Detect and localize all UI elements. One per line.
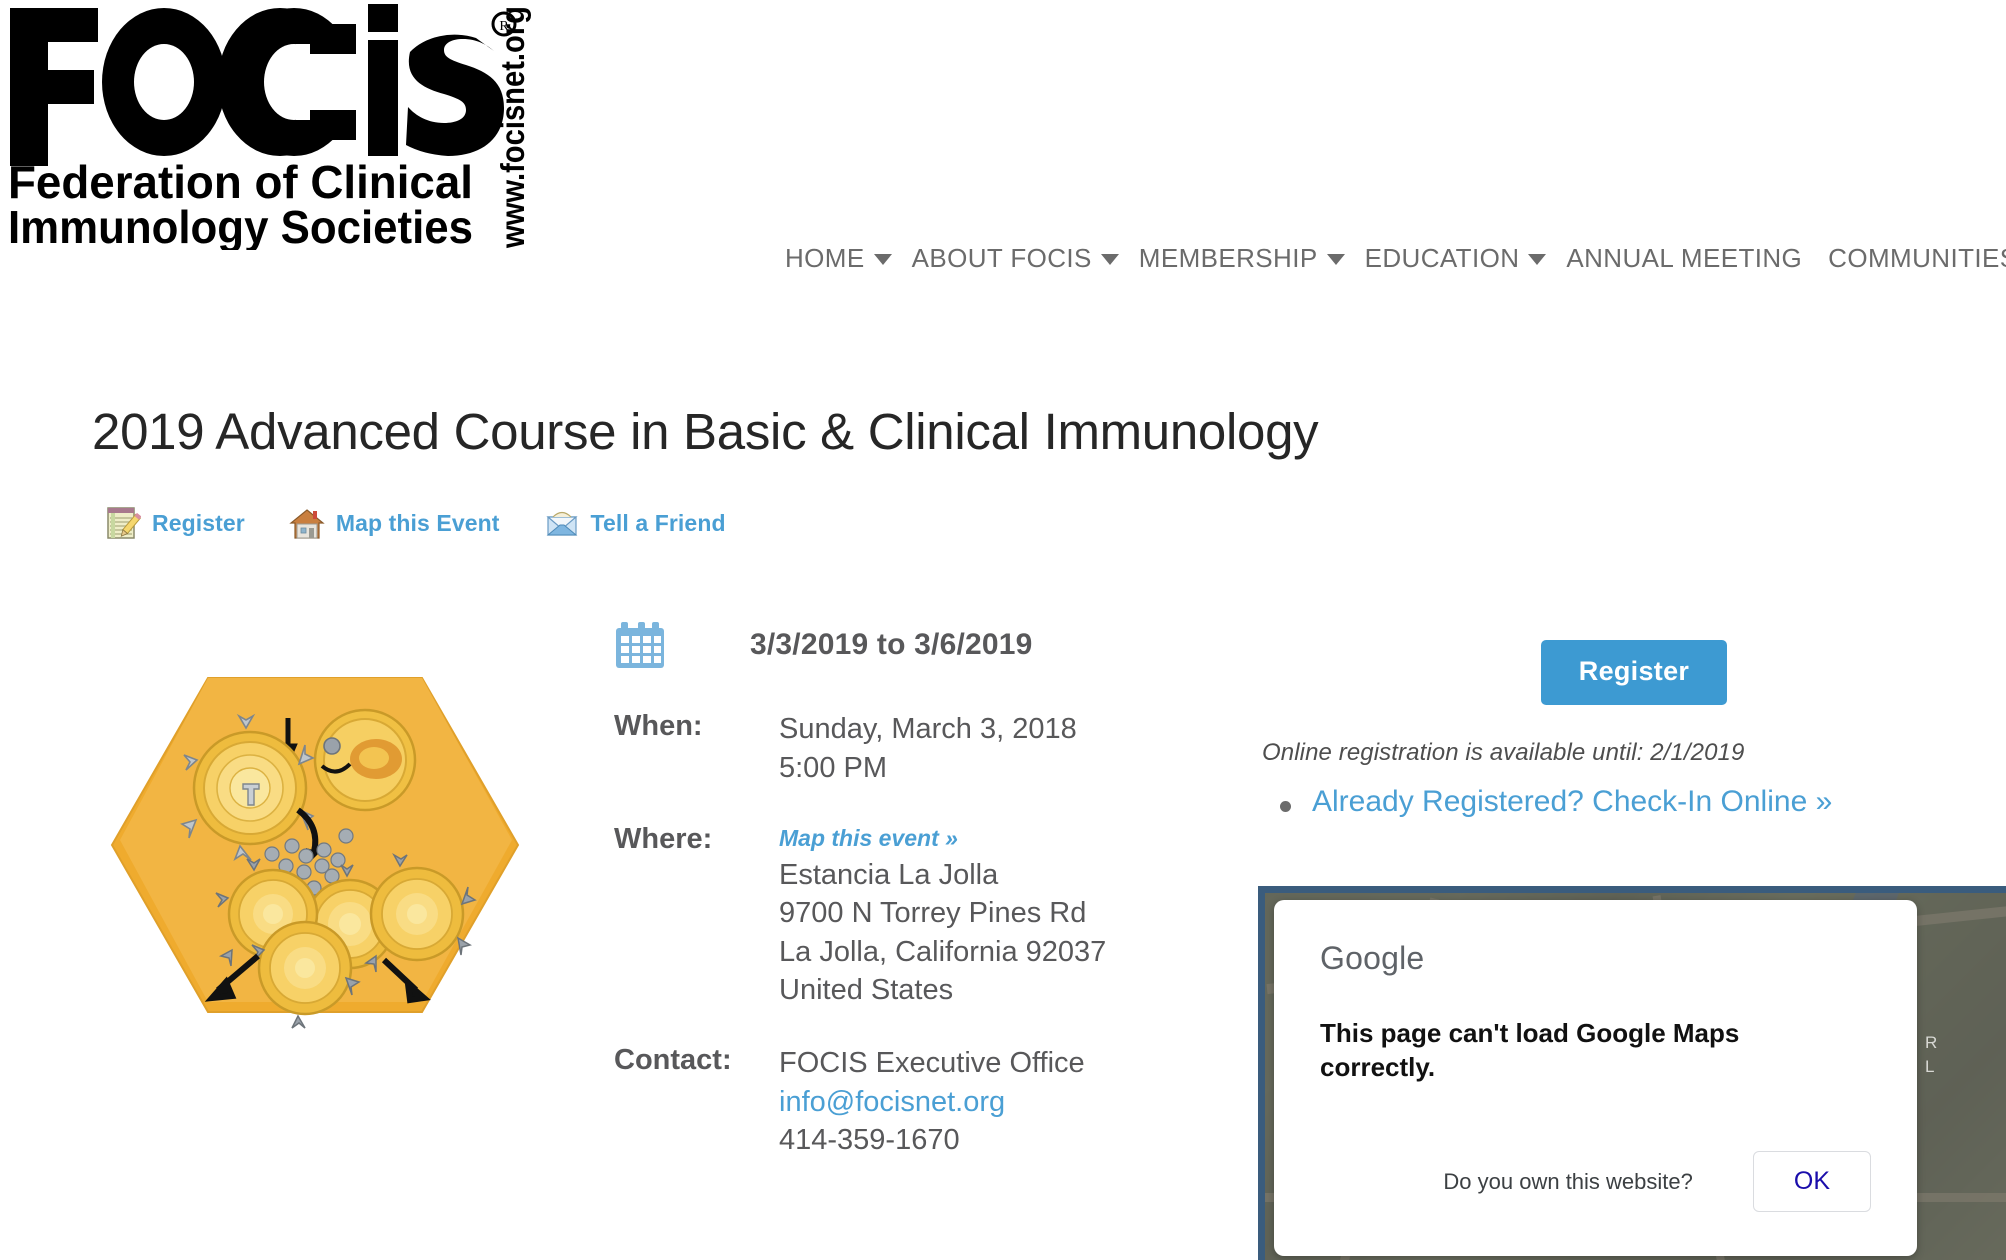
chevron-down-icon [1101,254,1119,265]
event-where-label: Where: [614,823,779,1010]
svg-text:Immunology Societies: Immunology Societies [8,201,473,250]
event-action-links: Register Map this Event Tell a Friend [105,505,770,541]
google-maps-error-message: This page can't load Google Maps correct… [1320,1017,1770,1085]
map-this-event-inline-link[interactable]: Map this event » [779,823,1106,854]
nav-item-annual-meeting[interactable]: ANNUAL MEETING [1566,245,1828,271]
event-contact-label: Contact: [614,1044,779,1160]
nav-item-home-label: HOME [785,245,865,271]
event-date-row: 3/3/2019 to 3/6/2019 [614,620,1234,670]
chevron-down-icon [1528,254,1546,265]
nav-item-about-focis-label: ABOUT FOCIS [912,245,1092,271]
event-contact-row: Contact: FOCIS Executive Office info@foc… [614,1044,1234,1160]
nav-item-communities[interactable]: COMMUNITIES [1828,245,2006,271]
immunology-hexagon-graphic [100,660,530,1030]
chevron-down-icon [874,254,892,265]
venue-country: United States [779,971,1106,1010]
google-logo: Google [1320,940,1871,977]
main-navigation[interactable]: HOME ABOUT FOCIS MEMBERSHIP EDUCATION AN… [785,245,2006,271]
page-title: 2019 Advanced Course in Basic & Clinical… [92,404,1318,460]
nav-item-communities-label: COMMUNITIES [1828,245,2006,271]
focis-logo[interactable]: R Federation of Clinical Immunology Soci… [4,0,549,250]
tell-a-friend-action-label: Tell a Friend [591,510,726,537]
nav-item-annual-meeting-label: ANNUAL MEETING [1566,245,1802,271]
nav-item-about-focis[interactable]: ABOUT FOCIS [912,245,1139,271]
registration-column: Register Online registration is availabl… [1262,620,2006,819]
event-when-value: Sunday, March 3, 2018 5:00 PM [779,710,1077,787]
register-button[interactable]: Register [1541,640,1727,705]
venue-city-state-zip: La Jolla, California 92037 [779,933,1106,972]
event-details: 3/3/2019 to 3/6/2019 When: Sunday, March… [614,620,1234,1182]
event-where-row: Where: Map this event » Estancia La Joll… [614,823,1234,1010]
event-date-range: 3/3/2019 to 3/6/2019 [750,628,1033,662]
event-when-row: When: Sunday, March 3, 2018 5:00 PM [614,710,1234,787]
registration-links-list: Already Registered? Check-In Online » [1262,785,2006,819]
google-maps-error-dialog: Google This page can't load Google Maps … [1274,900,1917,1256]
svg-text:www.focisnet.org: www.focisnet.org [494,6,531,249]
map-this-event-action-link[interactable]: Map this Event [289,505,500,541]
nav-item-education-label: EDUCATION [1365,245,1520,271]
calendar-icon [614,620,666,670]
nav-item-home[interactable]: HOME [785,245,912,271]
own-website-question: Do you own this website? [1443,1169,1692,1195]
event-when-label: When: [614,710,779,787]
event-when-time: 5:00 PM [779,749,1077,788]
venue-name: Estancia La Jolla [779,856,1106,895]
event-hexagon-illustration [100,660,530,1030]
house-icon [289,505,325,541]
contact-email-link[interactable]: info@focisnet.org [779,1083,1085,1122]
nav-item-membership-label: MEMBERSHIP [1139,245,1318,271]
contact-phone: 414-359-1670 [779,1121,1085,1160]
map-label-r: R [1925,1033,1937,1053]
event-when-date: Sunday, March 3, 2018 [779,710,1077,749]
notepad-pencil-icon [105,505,141,541]
register-action-link[interactable]: Register [105,505,245,541]
chevron-down-icon [1327,254,1345,265]
site-header: R Federation of Clinical Immunology Soci… [0,0,2006,300]
nav-item-education[interactable]: EDUCATION [1365,245,1567,271]
venue-street: 9700 N Torrey Pines Rd [779,894,1106,933]
map-this-event-action-label: Map this Event [336,510,500,537]
event-info-table: When: Sunday, March 3, 2018 5:00 PM Wher… [614,710,1234,1160]
contact-name: FOCIS Executive Office [779,1044,1085,1083]
registration-availability-note: Online registration is available until: … [1262,739,2006,767]
event-where-value: Map this event » Estancia La Jolla 9700 … [779,823,1106,1010]
check-in-online-link[interactable]: Already Registered? Check-In Online » [1312,785,2006,819]
tell-a-friend-action-link[interactable]: Tell a Friend [544,505,726,541]
google-maps-dialog-footer: Do you own this website? OK [1320,1151,1871,1212]
ok-button[interactable]: OK [1753,1151,1871,1212]
event-contact-value: FOCIS Executive Office info@focisnet.org… [779,1044,1085,1160]
nav-item-membership[interactable]: MEMBERSHIP [1139,245,1365,271]
envelope-icon [544,505,580,541]
register-action-label: Register [152,510,245,537]
focis-logo-svg: R Federation of Clinical Immunology Soci… [4,0,549,250]
map-label-l: L [1925,1057,1934,1077]
